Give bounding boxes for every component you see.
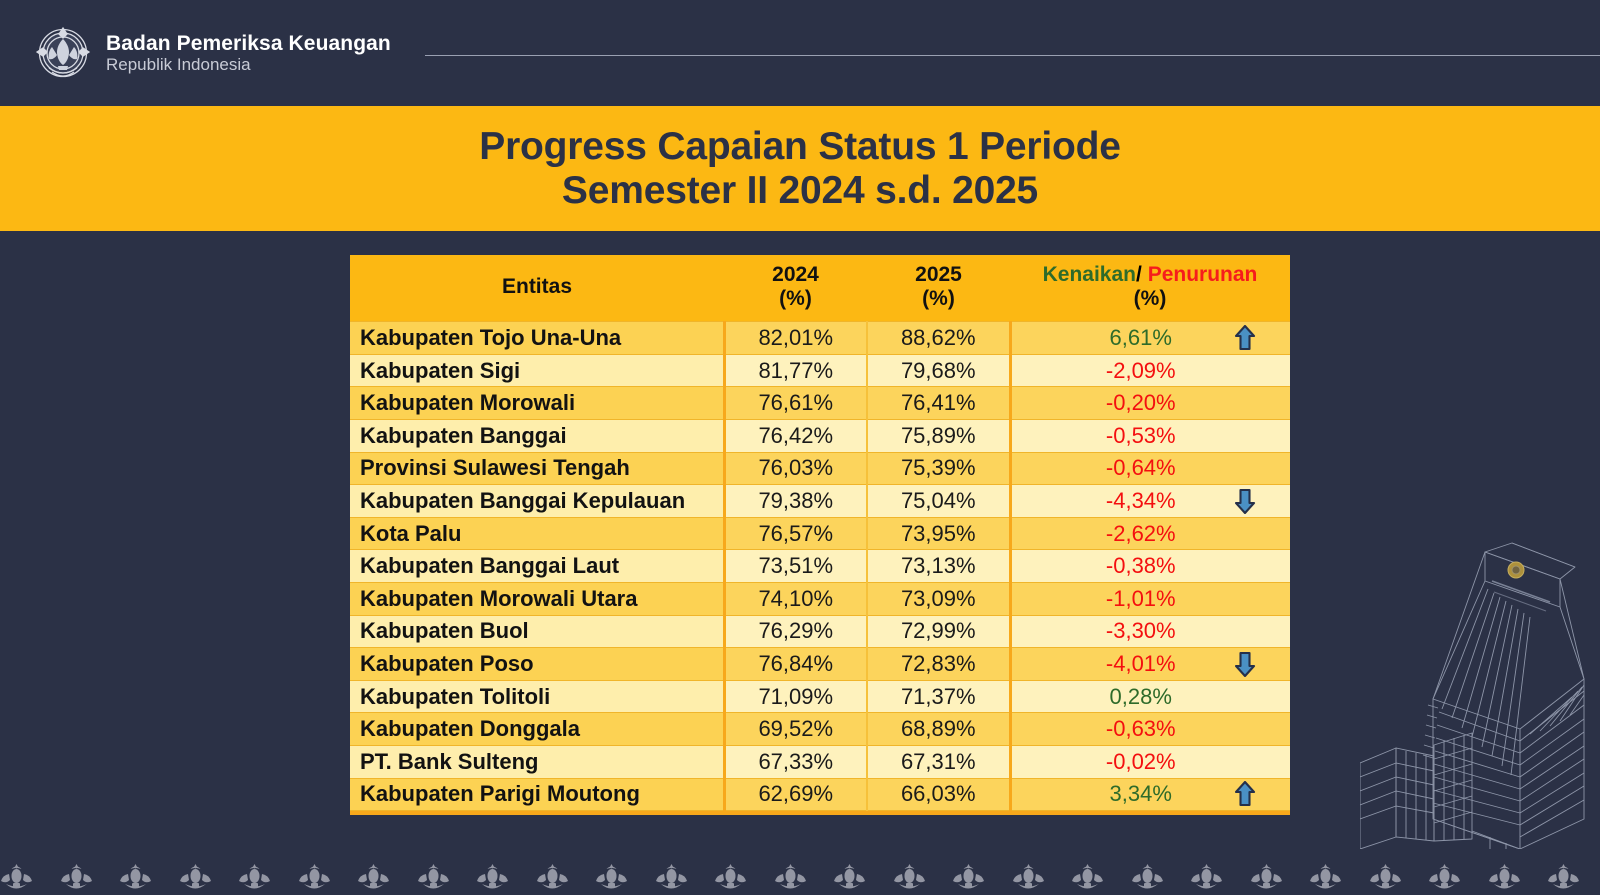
arrow-up-icon — [1234, 781, 1256, 807]
table-row: Kabupaten Poso76,84%72,83%-4,01% — [350, 648, 1290, 681]
cell-entity: Kabupaten Banggai Kepulauan — [350, 485, 724, 518]
table-row: Kabupaten Banggai Laut73,51%73,13%-0,38% — [350, 550, 1290, 583]
arrow-down-icon — [1234, 488, 1256, 514]
cell-delta: -2,62% — [1010, 517, 1290, 550]
bpk-logo-pattern-icon — [476, 863, 509, 895]
column-header-2024-year: 2024 — [728, 263, 863, 287]
cell-entity: Kabupaten Buol — [350, 615, 724, 648]
cell-delta: -2,09% — [1010, 354, 1290, 387]
cell-2025: 67,31% — [867, 746, 1010, 779]
cell-delta: 6,61% — [1010, 322, 1290, 355]
column-header-entity: Entitas — [350, 255, 724, 322]
cell-2024: 76,84% — [724, 648, 867, 681]
delta-label-increase: Kenaikan — [1043, 263, 1136, 286]
table-row: Kabupaten Banggai Kepulauan79,38%75,04%-… — [350, 485, 1290, 518]
cell-2025: 73,13% — [867, 550, 1010, 583]
cell-entity: Provinsi Sulawesi Tengah — [350, 452, 724, 485]
cell-2024: 76,42% — [724, 420, 867, 453]
cell-entity: Kabupaten Morowali — [350, 387, 724, 420]
cell-entity: PT. Bank Sulteng — [350, 746, 724, 779]
table-row: Kabupaten Tojo Una-Una82,01%88,62%6,61% — [350, 322, 1290, 355]
table-row: Kabupaten Parigi Moutong62,69%66,03%3,34… — [350, 778, 1290, 811]
cell-2025: 72,99% — [867, 615, 1010, 648]
arrow-up-icon — [1234, 325, 1256, 351]
cell-delta: -0,20% — [1010, 387, 1290, 420]
bpk-logo-pattern-icon — [595, 863, 628, 895]
title-banner: Progress Capaian Status 1 Periode Semest… — [0, 106, 1600, 231]
cell-entity: Kabupaten Poso — [350, 648, 724, 681]
bpk-logo-pattern-icon — [1131, 863, 1164, 895]
cell-2025: 75,04% — [867, 485, 1010, 518]
bpk-logo-pattern-icon — [238, 863, 271, 895]
table-row: Provinsi Sulawesi Tengah76,03%75,39%-0,6… — [350, 452, 1290, 485]
table-row: Kabupaten Banggai76,42%75,89%-0,53% — [350, 420, 1290, 453]
bpk-logo-pattern-icon — [774, 863, 807, 895]
bpk-logo-pattern-icon — [1190, 863, 1223, 895]
bpk-logo-pattern-icon — [1488, 863, 1521, 895]
bpk-logo-pattern-icon — [1428, 863, 1461, 895]
cell-delta: -0,02% — [1010, 746, 1290, 779]
cell-2024: 73,51% — [724, 550, 867, 583]
table-row: Kabupaten Morowali76,61%76,41%-0,20% — [350, 387, 1290, 420]
cell-2024: 76,57% — [724, 517, 867, 550]
cell-2025: 66,03% — [867, 778, 1010, 811]
bpk-logo-pattern-icon — [655, 863, 688, 895]
bpk-logo-pattern-icon — [179, 863, 212, 895]
bpk-logo-pattern-icon — [1369, 863, 1402, 895]
cell-2025: 68,89% — [867, 713, 1010, 746]
page-title-line2: Semester II 2024 s.d. 2025 — [479, 169, 1120, 213]
bpk-logo-pattern-icon — [60, 863, 93, 895]
bpk-logo-pattern-icon — [1309, 863, 1342, 895]
table-row: PT. Bank Sulteng67,33%67,31%-0,02% — [350, 746, 1290, 779]
cell-delta: -0,63% — [1010, 713, 1290, 746]
progress-table: Entitas 2024 (%) 2025 (%) Kenaikan/ Penu… — [350, 255, 1290, 811]
column-header-delta-unit: (%) — [1014, 287, 1286, 311]
cell-entity: Kabupaten Donggala — [350, 713, 724, 746]
bpk-logo-pattern-icon — [357, 863, 390, 895]
column-header-2024-unit: (%) — [728, 287, 863, 311]
cell-2025: 71,37% — [867, 680, 1010, 713]
bpk-logo-pattern-icon — [952, 863, 985, 895]
brand-title: Badan Pemeriksa Keuangan — [106, 32, 391, 56]
cell-delta: -0,53% — [1010, 420, 1290, 453]
cell-delta: -0,64% — [1010, 452, 1290, 485]
table-row: Kabupaten Donggala69,52%68,89%-0,63% — [350, 713, 1290, 746]
bpk-logo-pattern-icon — [1547, 863, 1580, 895]
cell-entity: Kabupaten Parigi Moutong — [350, 778, 724, 811]
delta-value: -3,30% — [1106, 620, 1176, 642]
delta-label-separator: / — [1136, 263, 1142, 286]
bpk-logo-pattern-icon — [1012, 863, 1045, 895]
brand-divider-rule — [425, 55, 1600, 56]
cell-2025: 73,95% — [867, 517, 1010, 550]
cell-2025: 73,09% — [867, 583, 1010, 616]
table-header-row: Entitas 2024 (%) 2025 (%) Kenaikan/ Penu… — [350, 255, 1290, 322]
delta-value: -2,09% — [1106, 360, 1176, 382]
cell-entity: Kabupaten Banggai Laut — [350, 550, 724, 583]
cell-delta: -3,30% — [1010, 615, 1290, 648]
bpk-tower-wireframe-icon — [1360, 519, 1600, 849]
column-header-delta-labels: Kenaikan/ Penurunan — [1014, 263, 1286, 287]
cell-entity: Kabupaten Morowali Utara — [350, 583, 724, 616]
delta-value: 0,28% — [1110, 686, 1172, 708]
brand-subtitle: Republik Indonesia — [106, 55, 391, 74]
column-header-2025: 2025 (%) — [867, 255, 1010, 322]
table-head: Entitas 2024 (%) 2025 (%) Kenaikan/ Penu… — [350, 255, 1290, 322]
delta-value: -1,01% — [1106, 588, 1176, 610]
cell-2024: 79,38% — [724, 485, 867, 518]
cell-2025: 72,83% — [867, 648, 1010, 681]
table-row: Kota Palu76,57%73,95%-2,62% — [350, 517, 1290, 550]
cell-entity: Kota Palu — [350, 517, 724, 550]
cell-2024: 69,52% — [724, 713, 867, 746]
cell-2025: 79,68% — [867, 354, 1010, 387]
delta-value: -0,64% — [1106, 457, 1176, 479]
table-row: Kabupaten Buol76,29%72,99%-3,30% — [350, 615, 1290, 648]
cell-entity: Kabupaten Sigi — [350, 354, 724, 387]
cell-delta: 3,34% — [1010, 778, 1290, 811]
delta-value: -0,02% — [1106, 751, 1176, 773]
cell-delta: 0,28% — [1010, 680, 1290, 713]
table-row: Kabupaten Sigi81,77%79,68%-2,09% — [350, 354, 1290, 387]
column-header-delta: Kenaikan/ Penurunan (%) — [1010, 255, 1290, 322]
delta-value: -0,20% — [1106, 392, 1176, 414]
cell-delta: -4,01% — [1010, 648, 1290, 681]
cell-entity: Kabupaten Tojo Una-Una — [350, 322, 724, 355]
cell-2024: 71,09% — [724, 680, 867, 713]
cell-entity: Kabupaten Tolitoli — [350, 680, 724, 713]
cell-delta: -0,38% — [1010, 550, 1290, 583]
delta-value: 6,61% — [1110, 327, 1172, 349]
cell-2024: 74,10% — [724, 583, 867, 616]
cell-2025: 88,62% — [867, 322, 1010, 355]
bottom-logo-strip — [0, 847, 1600, 895]
delta-value: 3,34% — [1110, 783, 1172, 805]
bpk-logo-pattern-icon — [119, 863, 152, 895]
progress-table-container: Entitas 2024 (%) 2025 (%) Kenaikan/ Penu… — [345, 252, 1295, 815]
bpk-logo-pattern-icon — [0, 863, 33, 895]
cell-2024: 76,61% — [724, 387, 867, 420]
arrow-down-icon — [1234, 651, 1256, 677]
bpk-logo-pattern-icon — [833, 863, 866, 895]
cell-2024: 62,69% — [724, 778, 867, 811]
column-header-2025-unit: (%) — [871, 287, 1006, 311]
bpk-logo-pattern-icon — [714, 863, 747, 895]
table-row: Kabupaten Tolitoli71,09%71,37%0,28% — [350, 680, 1290, 713]
cell-2025: 75,89% — [867, 420, 1010, 453]
cell-2024: 76,29% — [724, 615, 867, 648]
bpk-logo-pattern-icon — [298, 863, 331, 895]
delta-value: -4,34% — [1106, 490, 1176, 512]
brand-header: Badan Pemeriksa Keuangan Republik Indone… — [0, 0, 1600, 106]
delta-value: -0,53% — [1106, 425, 1176, 447]
delta-label-decrease: Penurunan — [1148, 263, 1258, 286]
delta-value: -0,63% — [1106, 718, 1176, 740]
bpk-logo-pattern-icon — [1071, 863, 1104, 895]
bpk-garuda-logo-icon — [32, 22, 94, 84]
delta-value: -2,62% — [1106, 523, 1176, 545]
bpk-logo-pattern-icon — [536, 863, 569, 895]
page-title-line1: Progress Capaian Status 1 Periode — [479, 125, 1120, 169]
table-body: Kabupaten Tojo Una-Una82,01%88,62%6,61%K… — [350, 322, 1290, 811]
column-header-2025-year: 2025 — [871, 263, 1006, 287]
delta-value: -0,38% — [1106, 555, 1176, 577]
cell-2024: 76,03% — [724, 452, 867, 485]
cell-2025: 76,41% — [867, 387, 1010, 420]
cell-2024: 82,01% — [724, 322, 867, 355]
table-row: Kabupaten Morowali Utara74,10%73,09%-1,0… — [350, 583, 1290, 616]
page-title: Progress Capaian Status 1 Periode Semest… — [479, 125, 1120, 212]
cell-2025: 75,39% — [867, 452, 1010, 485]
bpk-logo-pattern-icon — [1250, 863, 1283, 895]
bpk-logo-pattern-icon — [893, 863, 926, 895]
cell-2024: 81,77% — [724, 354, 867, 387]
cell-delta: -4,34% — [1010, 485, 1290, 518]
table-bottom-edge — [350, 811, 1290, 815]
bpk-logo-pattern-icon — [417, 863, 450, 895]
cell-delta: -1,01% — [1010, 583, 1290, 616]
delta-value: -4,01% — [1106, 653, 1176, 675]
cell-2024: 67,33% — [724, 746, 867, 779]
column-header-2024: 2024 (%) — [724, 255, 867, 322]
cell-entity: Kabupaten Banggai — [350, 420, 724, 453]
